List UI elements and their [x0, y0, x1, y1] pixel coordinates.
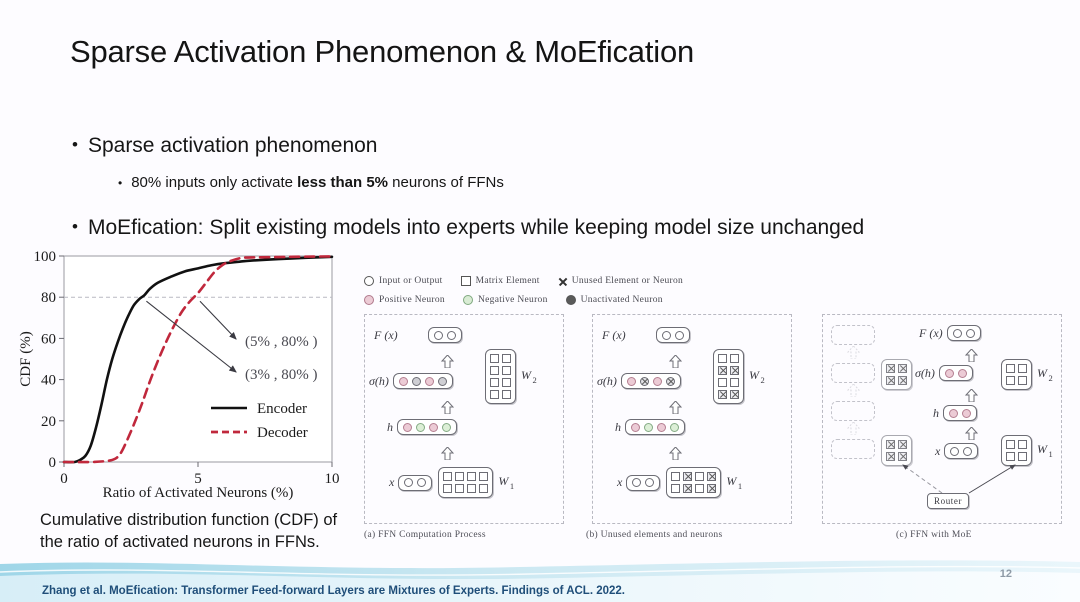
- bullet-80-pre: 80% inputs only activate: [131, 174, 297, 191]
- matrix-cell: [718, 354, 727, 363]
- y-axis-ticks: 020406080100: [34, 249, 65, 471]
- node-circle-unused: [640, 377, 649, 386]
- node-circle: [675, 331, 684, 340]
- router-edge-inactive: [903, 465, 942, 493]
- matrix-cell: [695, 484, 704, 493]
- x-axis-label: Ratio of Activated Neurons (%): [103, 485, 294, 501]
- green-circle-icon: [463, 295, 473, 305]
- label-h-c: h: [933, 406, 939, 421]
- matrix-w1-b: [666, 467, 721, 498]
- up-arrow-icon: [441, 355, 454, 368]
- node-circle: [645, 478, 654, 487]
- matrix-cell-unused: [718, 390, 727, 399]
- matrix-cell: [671, 484, 680, 493]
- matrix-cell: [730, 378, 739, 387]
- node-circle-positive: [403, 423, 412, 432]
- matrix-cell-unused: [886, 452, 895, 461]
- panel-c-caption: (c) FFN with MoE: [896, 530, 972, 540]
- matrix-cell-unused: [683, 472, 692, 481]
- diagram-legend-row-2: Positive Neuron Negative Neuron Unactiva…: [364, 295, 681, 305]
- matrix-cell-unused: [886, 376, 895, 385]
- legend-label-unactivated-neuron: Unactivated Neuron: [581, 295, 663, 305]
- node-circle-positive: [429, 423, 438, 432]
- pink-circle-icon: [364, 295, 374, 305]
- node-circle: [404, 478, 413, 487]
- matrix-w1-inactive-expert: [881, 435, 912, 466]
- matrix-cell-unused: [707, 484, 716, 493]
- matrix-cell: [479, 472, 488, 481]
- matrix-w2-b: [713, 349, 744, 404]
- matrix-cell: [443, 484, 452, 493]
- panel-a-w2-row: W2: [485, 349, 541, 404]
- node-circle-negative: [670, 423, 679, 432]
- up-arrow-icon: [669, 447, 682, 460]
- label-sigma-h-c: σ(h): [915, 366, 935, 381]
- node-circle: [417, 478, 426, 487]
- up-arrow-icon-ghost: [847, 422, 860, 435]
- node-circle-negative: [644, 423, 653, 432]
- label-w1-a-sub: 1: [510, 481, 514, 491]
- label-x-c: x: [935, 444, 940, 459]
- ghost-vector-h: [831, 401, 875, 421]
- matrix-w1-c: [1001, 435, 1032, 466]
- up-arrow-icon: [965, 349, 978, 362]
- legend-label-unused-element: Unused Element or Neuron: [572, 276, 683, 286]
- panel-c-ffn-with-moe: F (x) σ(h) h: [822, 314, 1062, 524]
- node-circle-negative: [416, 423, 425, 432]
- vector-h-c: [943, 405, 977, 421]
- vector-fx-b: [656, 327, 690, 343]
- matrix-cell-unused: [718, 366, 727, 375]
- sub-bullet-marker-icon: •: [118, 174, 122, 192]
- node-circle-positive: [657, 423, 666, 432]
- panel-b-x-row: x W1: [617, 467, 746, 498]
- up-arrow-icon: [669, 401, 682, 414]
- y-tick-label: 100: [34, 249, 57, 265]
- matrix-cell: [502, 378, 511, 387]
- page-title: Sparse Activation Phenomenon & MoEficati…: [70, 34, 694, 70]
- x-axis-ticks: 0510: [60, 462, 339, 487]
- router-edge-active: [969, 465, 1015, 493]
- label-fx-b: F (x): [602, 328, 626, 343]
- matrix-cell-unused: [898, 364, 907, 373]
- footer-citation: Zhang et al. MoEfication: Transformer Fe…: [42, 585, 625, 597]
- matrix-cell: [718, 378, 727, 387]
- panel-c-w1-row: W1: [1001, 435, 1057, 466]
- node-circle-unused: [666, 377, 675, 386]
- cdf-chart-svg: 020406080100 0510 (5% , 80% ) (3% , 80% …: [14, 246, 346, 504]
- matrix-cell: [490, 390, 499, 399]
- vector-x-b: [626, 475, 660, 491]
- figure-caption: Cumulative distribution function (CDF) o…: [40, 510, 340, 554]
- up-arrow-icon-ghost: [847, 346, 860, 359]
- annotation-label-3pct: (3% , 80% ): [245, 367, 317, 383]
- legend-matrix-element: Matrix Element: [461, 276, 540, 286]
- matrix-cell: [443, 472, 452, 481]
- vector-fx-c: [947, 325, 981, 341]
- label-w2-c-sub: 2: [1049, 373, 1053, 383]
- diagram-legend-row-1: Input or Output Matrix Element Unused El…: [364, 276, 701, 286]
- vector-x-a: [398, 475, 432, 491]
- up-arrow-icon-ghost: [847, 384, 860, 397]
- legend-positive-neuron: Positive Neuron: [364, 295, 445, 305]
- ghost-vector-fx: [831, 325, 875, 345]
- label-fx-a: F (x): [374, 328, 398, 343]
- matrix-cell: [1006, 364, 1015, 373]
- bullet-moefication: • MoEfication: Split existing models int…: [72, 216, 864, 240]
- x-tick-label: 10: [325, 471, 340, 487]
- up-arrow-icon: [441, 401, 454, 414]
- panel-b-caption: (b) Unused elements and neurons: [586, 530, 722, 540]
- matrix-cell: [490, 366, 499, 375]
- legend-label-input-output: Input or Output: [379, 276, 443, 286]
- label-x-a: x: [389, 475, 394, 490]
- vector-sigma-h-b: [621, 373, 681, 389]
- matrix-cell: [730, 354, 739, 363]
- legend-label-positive-neuron: Positive Neuron: [379, 295, 445, 305]
- node-circle-positive: [425, 377, 434, 386]
- up-arrow-icon: [669, 355, 682, 368]
- label-w1-b: W1: [726, 474, 742, 490]
- matrix-cell-unused: [886, 364, 895, 373]
- panel-b-h-row: h: [615, 419, 685, 435]
- label-w2-a: W2: [521, 368, 537, 384]
- panel-c-h-row: h: [933, 405, 977, 421]
- label-w1-a-text: W: [498, 474, 508, 488]
- node-circle-positive: [962, 409, 971, 418]
- matrix-w2-inactive-expert: [881, 359, 912, 390]
- matrix-w2-a: [485, 349, 516, 404]
- matrix-cell-unused: [898, 440, 907, 449]
- vector-x-c: [944, 443, 978, 459]
- panel-c-w2-row: W2: [1001, 359, 1057, 390]
- label-w1-c: W1: [1037, 442, 1053, 458]
- ghost-vector-x: [831, 439, 875, 459]
- node-circle: [662, 331, 671, 340]
- panel-b-fx-row: F (x): [602, 327, 690, 343]
- label-w1-b-text: W: [726, 474, 736, 488]
- panel-b-sigma-row: σ(h): [597, 373, 681, 389]
- panel-b-w2-row: W2: [713, 349, 769, 404]
- node-circle: [447, 331, 456, 340]
- matrix-cell-unused: [683, 484, 692, 493]
- label-fx-c: F (x): [919, 326, 943, 341]
- matrix-cell-unused: [707, 472, 716, 481]
- matrix-cell: [1006, 376, 1015, 385]
- diagram-panels: F (x) σ(h) h: [360, 314, 1066, 558]
- label-w1-a: W1: [498, 474, 514, 490]
- node-circle-positive: [958, 369, 967, 378]
- node-circle-positive: [945, 369, 954, 378]
- label-w2-c: W2: [1037, 366, 1053, 382]
- node-circle-unactivated: [412, 377, 421, 386]
- node-circle: [966, 329, 975, 338]
- matrix-cell: [1018, 364, 1027, 373]
- node-circle: [632, 478, 641, 487]
- matrix-cell-unused: [898, 376, 907, 385]
- legend-input-or-output: Input or Output: [364, 276, 443, 286]
- node-circle: [434, 331, 443, 340]
- y-tick-label: 80: [41, 290, 56, 306]
- y-tick-label: 20: [41, 414, 56, 430]
- matrix-cell: [455, 484, 464, 493]
- panel-c-fx-row: F (x): [919, 325, 981, 341]
- bullet-sparse-activation: • Sparse activation phenomenon: [72, 134, 377, 158]
- open-circle-icon: [364, 276, 374, 286]
- matrix-cell: [490, 354, 499, 363]
- legend-label-encoder: Encoder: [257, 401, 307, 417]
- up-arrow-icon: [441, 447, 454, 460]
- matrix-cell: [671, 472, 680, 481]
- matrix-w2-c: [1001, 359, 1032, 390]
- label-sigma-h-b: σ(h): [597, 374, 617, 389]
- matrix-cell: [502, 390, 511, 399]
- bullet-80-percent-text: 80% inputs only activate less than 5% ne…: [131, 174, 504, 191]
- panel-a-h-row: h: [387, 419, 457, 435]
- vector-sigma-h-c: [939, 365, 973, 381]
- panel-a-sigma-row: σ(h): [369, 373, 453, 389]
- matrix-cell: [1018, 376, 1027, 385]
- ghost-vector-sigma-h: [831, 363, 875, 383]
- vector-h-a: [397, 419, 457, 435]
- vector-h-b: [625, 419, 685, 435]
- matrix-cell: [467, 484, 476, 493]
- legend-unused-element: Unused Element or Neuron: [558, 276, 683, 286]
- node-circle-positive: [399, 377, 408, 386]
- legend-negative-neuron: Negative Neuron: [463, 295, 548, 305]
- annotation-label-5pct: (5% , 80% ): [245, 334, 317, 350]
- matrix-w1-a: [438, 467, 493, 498]
- open-square-icon: [461, 276, 471, 286]
- y-tick-label: 40: [41, 373, 56, 389]
- y-tick-label: 60: [41, 331, 56, 347]
- label-w2-c-text: W: [1037, 366, 1047, 380]
- matrix-cell: [455, 472, 464, 481]
- x-mark-icon: [558, 277, 567, 286]
- matrix-cell: [490, 378, 499, 387]
- label-w2-b-sub: 2: [761, 375, 765, 385]
- bullet-sparse-activation-label: Sparse activation phenomenon: [88, 134, 378, 158]
- router-box[interactable]: Router: [927, 493, 969, 509]
- matrix-cell: [479, 484, 488, 493]
- label-x-b: x: [617, 475, 622, 490]
- matrix-cell-unused: [730, 366, 739, 375]
- node-circle: [953, 329, 962, 338]
- bullet-80-post: neurons of FFNs: [388, 174, 504, 191]
- moefication-diagram: Input or Output Matrix Element Unused El…: [360, 276, 1066, 558]
- bullet-marker-icon-2: •: [72, 216, 78, 237]
- label-h-a: h: [387, 420, 393, 435]
- node-circle: [963, 447, 972, 456]
- panel-a-ffn-computation: F (x) σ(h) h: [364, 314, 564, 524]
- cdf-chart: 020406080100 0510 (5% , 80% ) (3% , 80% …: [14, 246, 346, 504]
- legend-unactivated-neuron: Unactivated Neuron: [566, 295, 663, 305]
- matrix-cell-unused: [730, 390, 739, 399]
- panel-c-sigma-row: σ(h): [915, 365, 973, 381]
- legend-label-matrix-element: Matrix Element: [476, 276, 540, 286]
- up-arrow-icon: [965, 389, 978, 402]
- legend-label-negative-neuron: Negative Neuron: [478, 295, 548, 305]
- node-circle-positive: [949, 409, 958, 418]
- node-circle-unactivated: [438, 377, 447, 386]
- bullet-marker-icon: •: [72, 134, 78, 155]
- node-circle-positive: [627, 377, 636, 386]
- matrix-cell: [1018, 452, 1027, 461]
- matrix-cell: [1006, 452, 1015, 461]
- up-arrow-icon: [965, 427, 978, 440]
- y-axis-label: CDF (%): [18, 331, 34, 386]
- node-circle-positive: [653, 377, 662, 386]
- matrix-cell: [467, 472, 476, 481]
- label-w2-b: W2: [749, 368, 765, 384]
- y-tick-label: 0: [49, 455, 57, 471]
- node-circle-positive: [631, 423, 640, 432]
- bullet-80-emphasis: less than 5%: [297, 174, 388, 191]
- slide-canvas: Sparse Activation Phenomenon & MoEficati…: [0, 0, 1080, 602]
- panel-b-unused-elements: F (x) σ(h) h: [592, 314, 792, 524]
- matrix-cell: [1018, 440, 1027, 449]
- label-h-b: h: [615, 420, 621, 435]
- vector-sigma-h-a: [393, 373, 453, 389]
- bullet-80-percent-inputs: • 80% inputs only activate less than 5% …: [118, 174, 504, 192]
- matrix-cell: [1006, 440, 1015, 449]
- matrix-cell: [502, 354, 511, 363]
- vector-fx-a: [428, 327, 462, 343]
- panel-c-x-row: x: [935, 443, 978, 459]
- matrix-cell: [695, 472, 704, 481]
- matrix-cell-unused: [886, 440, 895, 449]
- bullet-moefication-label: MoEfication: Split existing models into …: [88, 216, 864, 240]
- label-w2-a-text: W: [521, 368, 531, 382]
- label-w1-c-text: W: [1037, 442, 1047, 456]
- label-w1-b-sub: 1: [738, 481, 742, 491]
- label-w2-b-text: W: [749, 368, 759, 382]
- gray-circle-icon: [566, 295, 576, 305]
- panel-a-fx-row: F (x): [374, 327, 462, 343]
- panel-a-x-row: x W1: [389, 467, 518, 498]
- x-tick-label: 0: [60, 471, 68, 487]
- label-w1-c-sub: 1: [1049, 449, 1053, 459]
- matrix-cell: [502, 366, 511, 375]
- page-number: 12: [1000, 568, 1012, 580]
- node-circle-negative: [442, 423, 451, 432]
- node-circle: [950, 447, 959, 456]
- legend-label-decoder: Decoder: [257, 425, 308, 441]
- panel-a-caption: (a) FFN Computation Process: [364, 530, 486, 540]
- label-sigma-h-a: σ(h): [369, 374, 389, 389]
- matrix-cell-unused: [898, 452, 907, 461]
- label-w2-a-sub: 2: [533, 375, 537, 385]
